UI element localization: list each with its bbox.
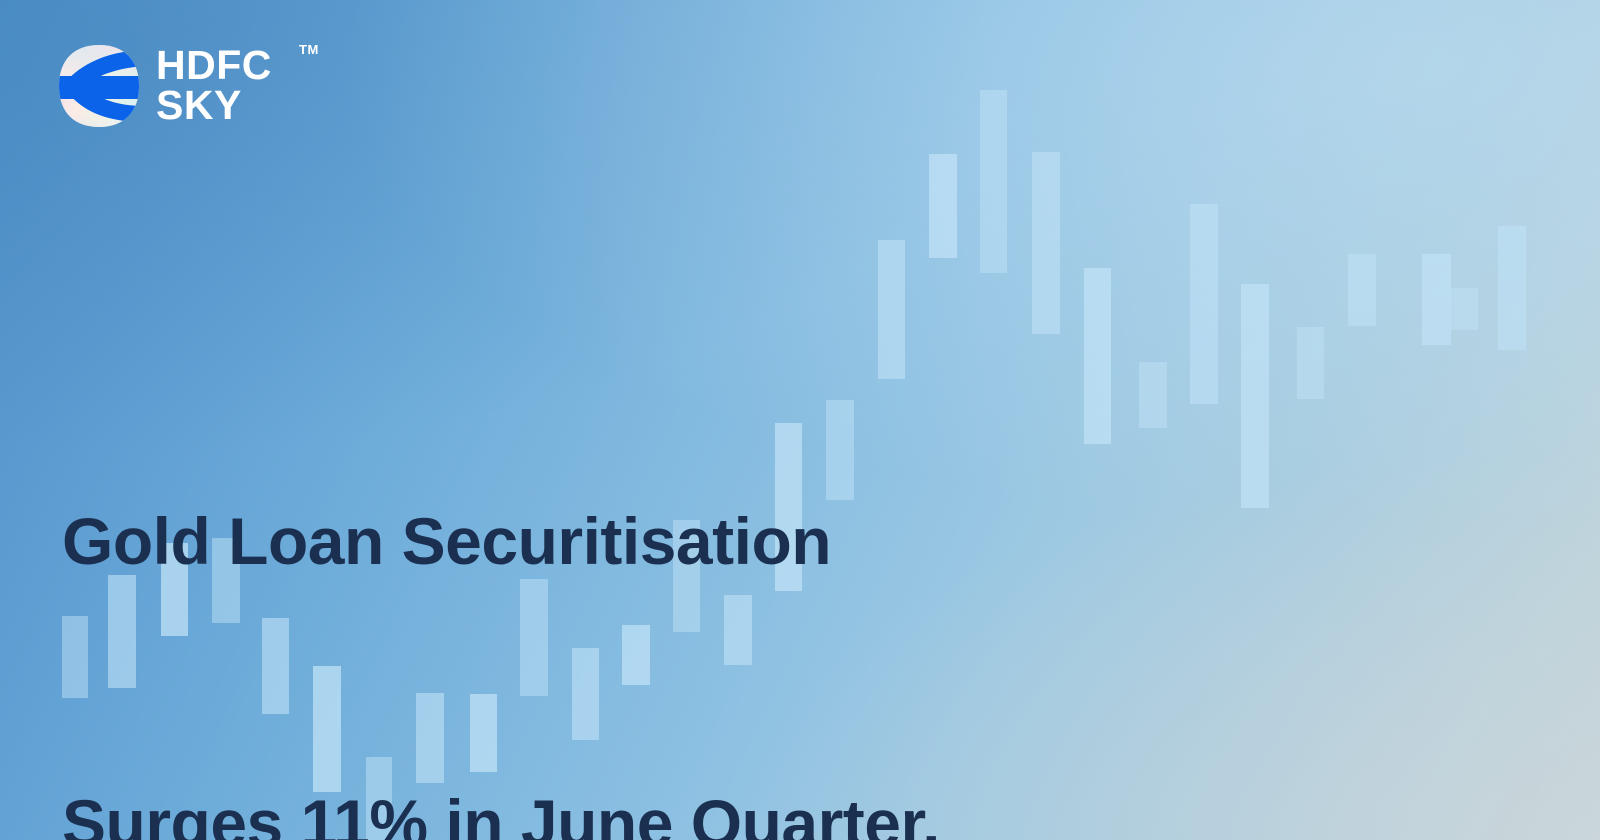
background-bar bbox=[1297, 327, 1324, 399]
brand-wordmark: HDFC SKY TM bbox=[156, 46, 272, 126]
background-bar bbox=[1348, 254, 1376, 326]
news-banner: HDFC SKY TM Gold Loan Securitisation Sur… bbox=[0, 0, 1600, 840]
hdfc-sky-squircle-swoosh-icon bbox=[58, 44, 140, 128]
headline-line-2: Surges 11% in June Quarter, bbox=[62, 776, 1162, 840]
background-bar bbox=[980, 90, 1007, 273]
page-title: Gold Loan Securitisation Surges 11% in J… bbox=[62, 306, 1162, 840]
trademark-symbol: TM bbox=[299, 44, 319, 57]
wordmark-line-1: HDFC bbox=[156, 46, 272, 86]
wordmark-line-2: SKY bbox=[156, 86, 272, 126]
background-bar bbox=[1241, 284, 1269, 508]
headline-line-1: Gold Loan Securitisation bbox=[62, 494, 1162, 588]
background-bar bbox=[1450, 288, 1478, 330]
background-bar bbox=[929, 154, 957, 258]
background-bar bbox=[1190, 204, 1218, 404]
background-bar bbox=[1498, 226, 1526, 350]
brand-logo[interactable]: HDFC SKY TM bbox=[58, 44, 272, 128]
background-bar bbox=[1422, 254, 1451, 345]
